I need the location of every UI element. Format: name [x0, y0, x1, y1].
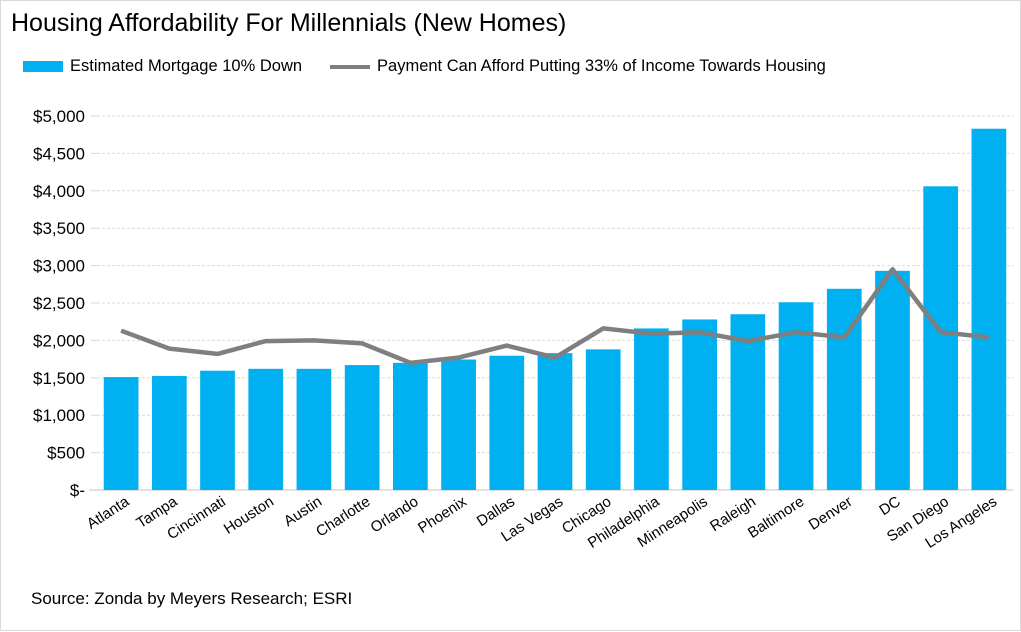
- x-axis-tick-label: Phoenix: [415, 493, 470, 537]
- bar[interactable]: [200, 371, 235, 490]
- y-axis-tick-labels: $-$500$1,000$1,500$2,000$2,500$3,000$3,5…: [33, 107, 85, 500]
- chart-plot-area: $-$500$1,000$1,500$2,000$2,500$3,000$3,5…: [1, 1, 1021, 632]
- x-axis-tick-label: Houston: [221, 493, 277, 538]
- y-axis-tick-label: $2,000: [33, 331, 85, 350]
- bar[interactable]: [297, 369, 332, 490]
- x-axis-tick-label: Orlando: [368, 493, 422, 536]
- x-axis-tick-labels: AtlantaTampaCincinnatiHoustonAustinCharl…: [84, 493, 1000, 552]
- bar[interactable]: [586, 349, 621, 490]
- bar[interactable]: [441, 359, 476, 490]
- bar[interactable]: [152, 376, 187, 490]
- y-axis-tick-label: $4,500: [33, 144, 85, 163]
- y-axis-tick-label: $5,000: [33, 107, 85, 126]
- bar[interactable]: [345, 365, 380, 490]
- x-axis-tick-label: DC: [876, 493, 904, 519]
- bar[interactable]: [393, 363, 428, 490]
- y-axis-tick-label: $500: [47, 444, 85, 463]
- bar[interactable]: [972, 129, 1007, 490]
- y-axis-tick-label: $4,000: [33, 182, 85, 201]
- x-axis-tick-label: Charlotte: [313, 493, 373, 540]
- x-axis-tick-label: Denver: [806, 493, 856, 534]
- bar[interactable]: [634, 328, 669, 490]
- y-axis-tick-label: $-: [70, 481, 85, 500]
- y-axis-tick-label: $3,500: [33, 219, 85, 238]
- bar-series: [104, 129, 1007, 490]
- y-axis-tick-label: $1,500: [33, 369, 85, 388]
- y-axis-tick-label: $1,000: [33, 406, 85, 425]
- source-note: Source: Zonda by Meyers Research; ESRI: [31, 589, 352, 609]
- x-axis-tick-label: Atlanta: [84, 493, 133, 533]
- bar[interactable]: [489, 356, 524, 490]
- y-axis-tick-label: $3,000: [33, 257, 85, 276]
- bar[interactable]: [682, 319, 717, 490]
- chart-card: Housing Affordability For Millennials (N…: [0, 0, 1021, 631]
- bar[interactable]: [875, 271, 910, 490]
- y-axis-tick-label: $2,500: [33, 294, 85, 313]
- bar[interactable]: [104, 377, 139, 490]
- bar[interactable]: [923, 186, 958, 490]
- bar[interactable]: [248, 369, 283, 490]
- bar[interactable]: [538, 353, 573, 490]
